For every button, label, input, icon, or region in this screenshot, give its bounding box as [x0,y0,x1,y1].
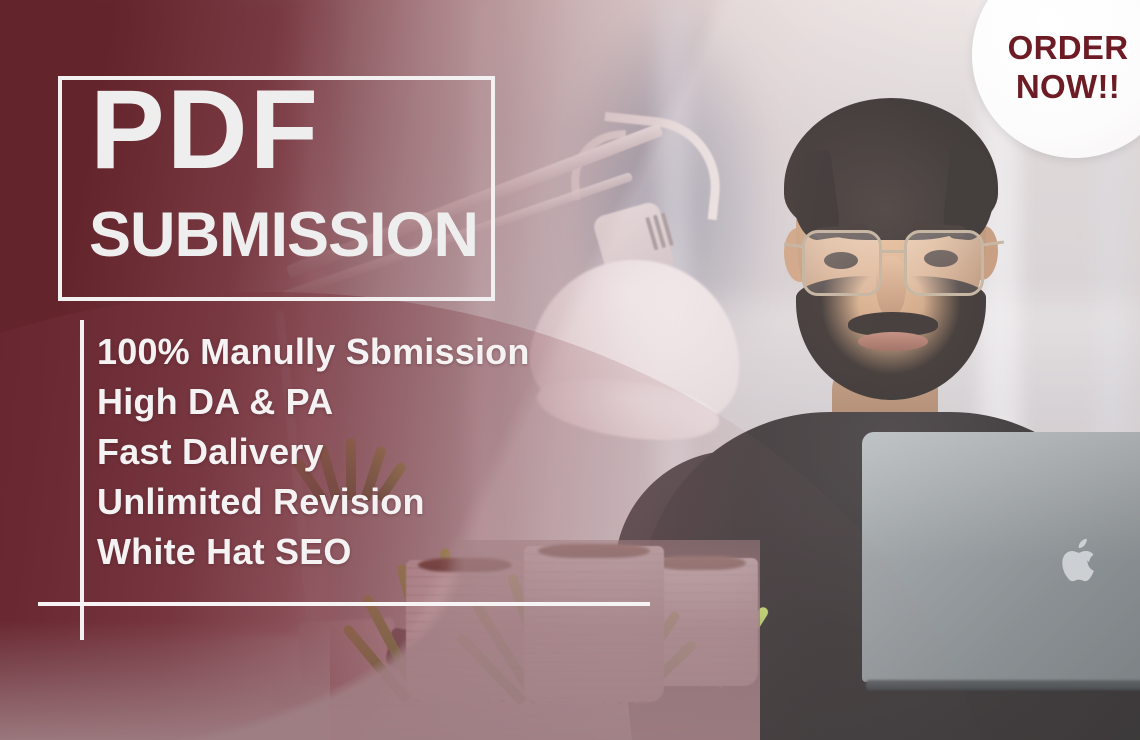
overlay-content: PDF SUBMISSION 100% Manully Sbmission Hi… [0,0,1140,740]
page-title: PDF [90,74,320,186]
list-item: 100% Manully Sbmission [97,327,737,377]
order-now-badge[interactable]: ORDER NOW!! [972,0,1140,158]
list-item: Unlimited Revision [97,477,737,527]
page-subtitle: SUBMISSION [89,204,478,267]
list-item: Fast Dalivery [97,427,737,477]
promo-banner: PDF SUBMISSION 100% Manully Sbmission Hi… [0,0,1140,740]
badge-line-1: ORDER [972,28,1140,67]
list-item: High DA & PA [97,377,737,427]
list-item: White Hat SEO [97,527,737,577]
horizontal-rule [38,602,650,606]
feature-list: 100% Manully Sbmission High DA & PA Fast… [97,327,737,577]
title-frame: PDF SUBMISSION [58,76,495,301]
badge-line-2: NOW!! [972,67,1140,106]
vertical-rule [80,320,84,640]
